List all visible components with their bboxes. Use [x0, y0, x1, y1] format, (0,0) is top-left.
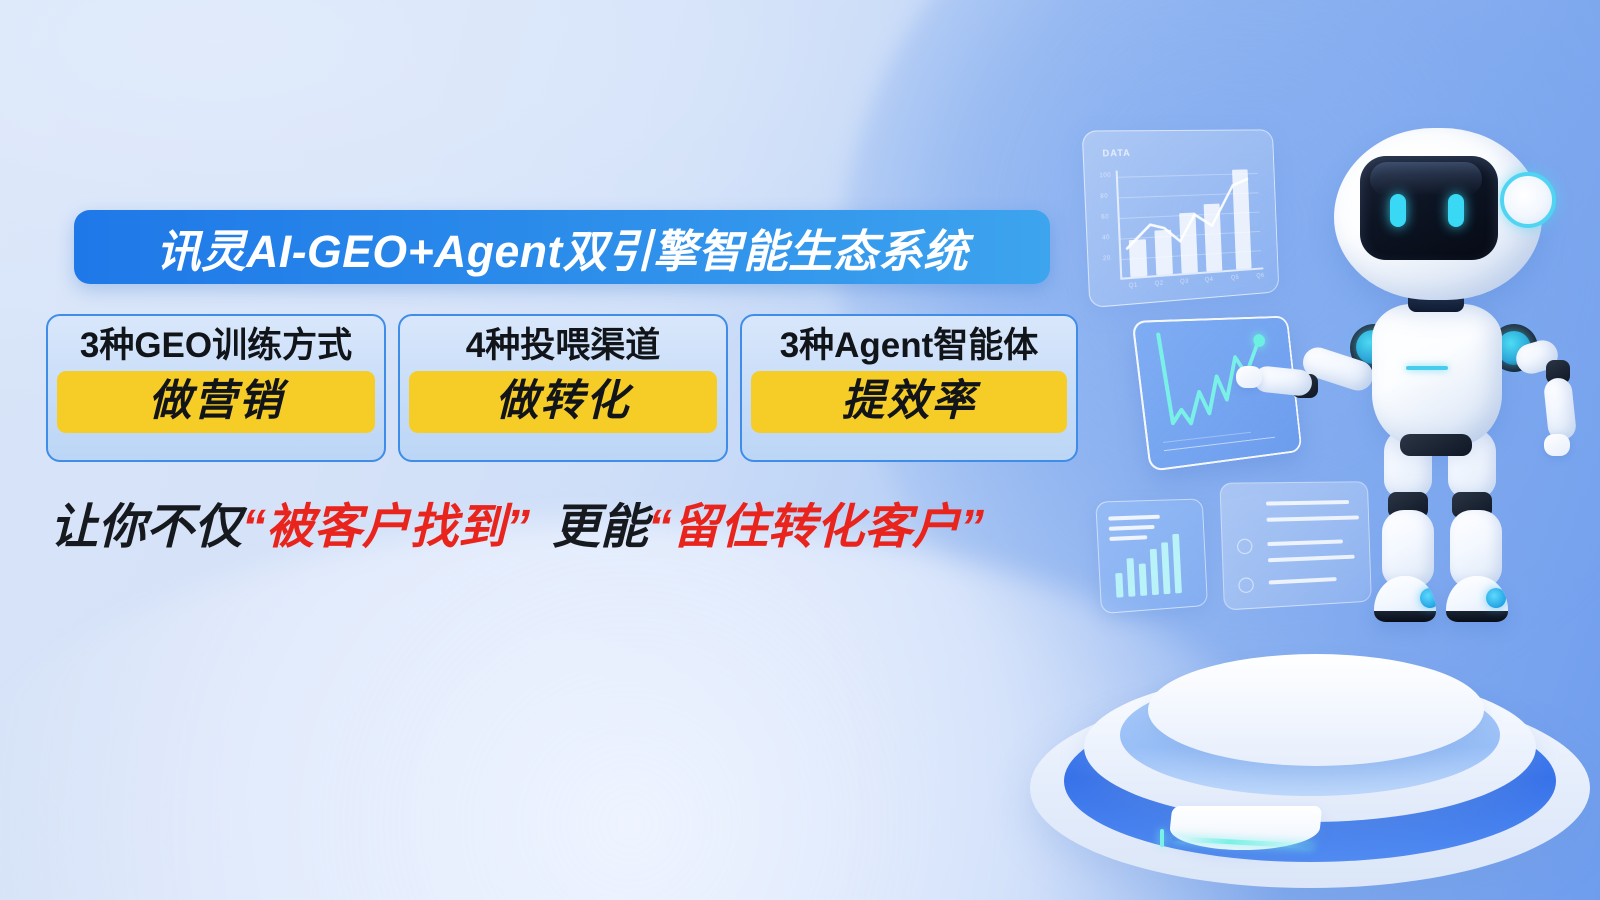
feature-card-title: 3种GEO训练方式 [80, 327, 352, 365]
robot-left-foot-sole [1374, 611, 1436, 622]
feature-card-list: 3种GEO训练方式 做营销 4种投喂渠道 做转化 3种Agent智能体 提效率 [46, 314, 1076, 462]
hologram-text-line [1109, 535, 1147, 540]
hologram-text-line [1109, 525, 1155, 530]
hologram-mini-bar [1150, 549, 1159, 595]
tagline-quote-1: “被客户找到” [242, 487, 530, 557]
hologram-x-tick: Q6 [1256, 273, 1264, 279]
robot-left-hand [1236, 366, 1262, 388]
hologram-mini-bar [1172, 534, 1182, 594]
robot-right-foot-sole [1446, 611, 1508, 622]
hero-title-banner: 讯灵AI-GEO+Agent双引擎智能生态系统 [74, 210, 1050, 284]
feature-card-title: 4种投喂渠道 [466, 327, 660, 365]
ai-robot-mascot [1288, 128, 1600, 658]
hero-title-text: 讯灵AI-GEO+Agent双引擎智能生态系统 [156, 215, 968, 280]
robot-chest-light [1406, 366, 1448, 370]
hologram-x-tick: Q2 [1155, 281, 1164, 288]
feature-card-ribbon-text: 做营销 [149, 380, 284, 423]
podium-top-tier [1148, 654, 1484, 766]
tagline-part-1: 让你不仅 [50, 487, 242, 557]
tagline-part-2: 更能 [552, 487, 648, 557]
robot-ear-ring-icon [1500, 172, 1556, 228]
hologram-x-tick: Q1 [1129, 283, 1138, 290]
podium-accent-tick [1160, 829, 1164, 847]
hologram-mini-bar [1161, 542, 1170, 594]
hologram-x-tick: Q5 [1231, 275, 1240, 281]
robot-left-eye [1390, 194, 1406, 227]
robot-right-hand [1544, 434, 1570, 456]
hero-tagline: 让你不仅 “被客户找到” 更能 “留住转化客户” [50, 486, 1090, 558]
feature-card-ribbon-text: 做转化 [496, 380, 631, 423]
feature-card-geo-training[interactable]: 3种GEO训练方式 做营销 [46, 314, 386, 462]
hologram-list-bullet-icon [1237, 539, 1253, 555]
hero-banner: DATA 100 80 60 40 20 Q1 Q2 Q3 Q4 Q5 Q6 [0, 0, 1600, 900]
feature-card-ribbon: 提效率 [751, 371, 1067, 433]
feature-card-feeding-channels[interactable]: 4种投喂渠道 做转化 [398, 314, 728, 462]
robot-torso [1372, 304, 1502, 446]
robot-right-foot [1446, 576, 1508, 622]
robot-right-forearm [1543, 377, 1577, 442]
robot-right-foot-light [1486, 588, 1506, 608]
robot-waist-joint [1400, 434, 1472, 456]
robot-right-eye [1448, 194, 1464, 227]
hologram-chart-panel: DATA 100 80 60 40 20 Q1 Q2 Q3 Q4 Q5 Q6 [1082, 129, 1280, 308]
robot-left-foot-light [1420, 588, 1436, 608]
robot-face-gloss [1370, 162, 1482, 196]
feature-card-agent[interactable]: 3种Agent智能体 提效率 [740, 314, 1078, 462]
hologram-mini-bar [1139, 563, 1148, 596]
hologram-text-line [1108, 515, 1160, 520]
robot-face-screen [1360, 156, 1498, 260]
tagline-quote-2: “留住转化客户” [648, 487, 984, 557]
hologram-list-bullet-icon [1238, 577, 1254, 593]
feature-card-title: 3种Agent智能体 [780, 327, 1039, 365]
hologram-mini-bar [1127, 558, 1136, 597]
feature-card-ribbon-text: 提效率 [842, 380, 977, 423]
feature-card-ribbon: 做转化 [409, 371, 717, 433]
hologram-mini-bar [1115, 573, 1123, 598]
hologram-x-tick: Q4 [1205, 277, 1214, 284]
feature-card-ribbon: 做营销 [57, 371, 375, 433]
hologram-tablet-screen [1131, 316, 1302, 472]
hologram-tablet-line-chart [1134, 318, 1301, 470]
hologram-x-tick: Q3 [1180, 279, 1189, 286]
